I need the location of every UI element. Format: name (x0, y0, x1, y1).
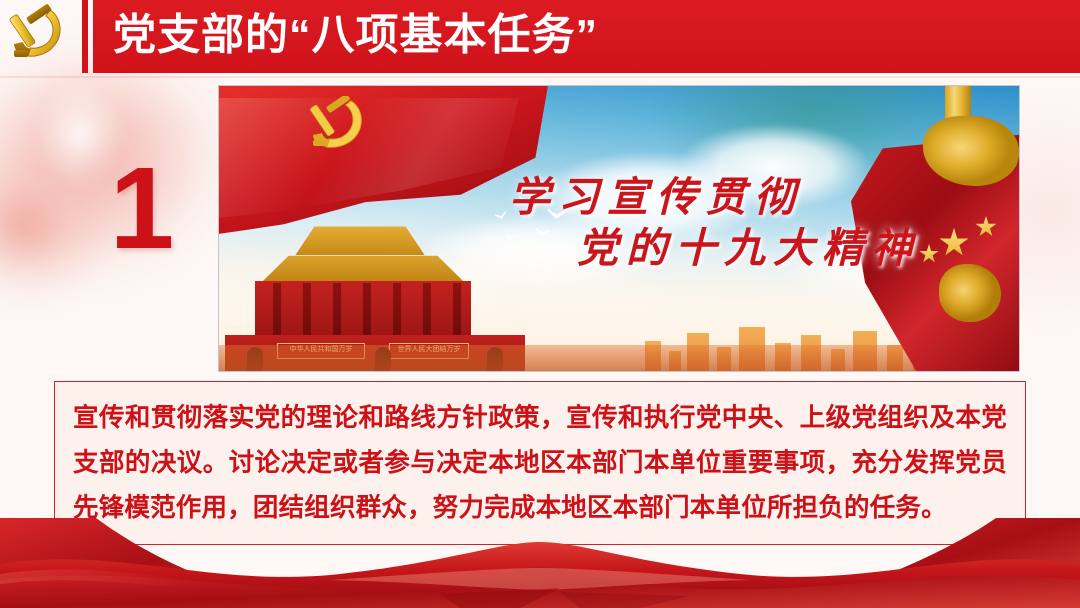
gold-tassel (939, 264, 1001, 322)
header: 党支部的“八项基本任务” (0, 0, 1080, 76)
title-bar: 党支部的“八项基本任务” (93, 0, 1080, 73)
title-accent-stripe (82, 0, 88, 73)
gate-upper-roof (265, 221, 455, 255)
gate-column (393, 283, 401, 337)
bottom-ribbon-decoration (0, 518, 1080, 608)
gate-column (363, 283, 371, 337)
section-number: 1 (96, 150, 186, 266)
gate-column (453, 283, 461, 337)
gate-column (333, 283, 341, 337)
gate-lower-roof (239, 251, 487, 285)
page-title: 党支部的“八项基本任务” (113, 14, 598, 57)
flagpole-group (827, 85, 1020, 372)
gate-column (303, 283, 311, 337)
gate-column (423, 283, 431, 337)
content-paragraph: 宣传和贯彻落实党的理论和路线方针政策，宣传和执行党中央、上级党组织及本党支部的决… (73, 396, 1007, 531)
gate-column (273, 283, 281, 337)
header-divider (0, 76, 1080, 78)
hammer-sickle-icon (307, 96, 377, 158)
party-emblem-icon (6, 4, 74, 70)
banner-image: 中华人民共和国万岁 世界人民大团结万岁 学习宣传贯彻 党的十九大精神 (218, 85, 1020, 372)
slide-root: 党支部的“八项基本任务” 1 (0, 0, 1080, 608)
